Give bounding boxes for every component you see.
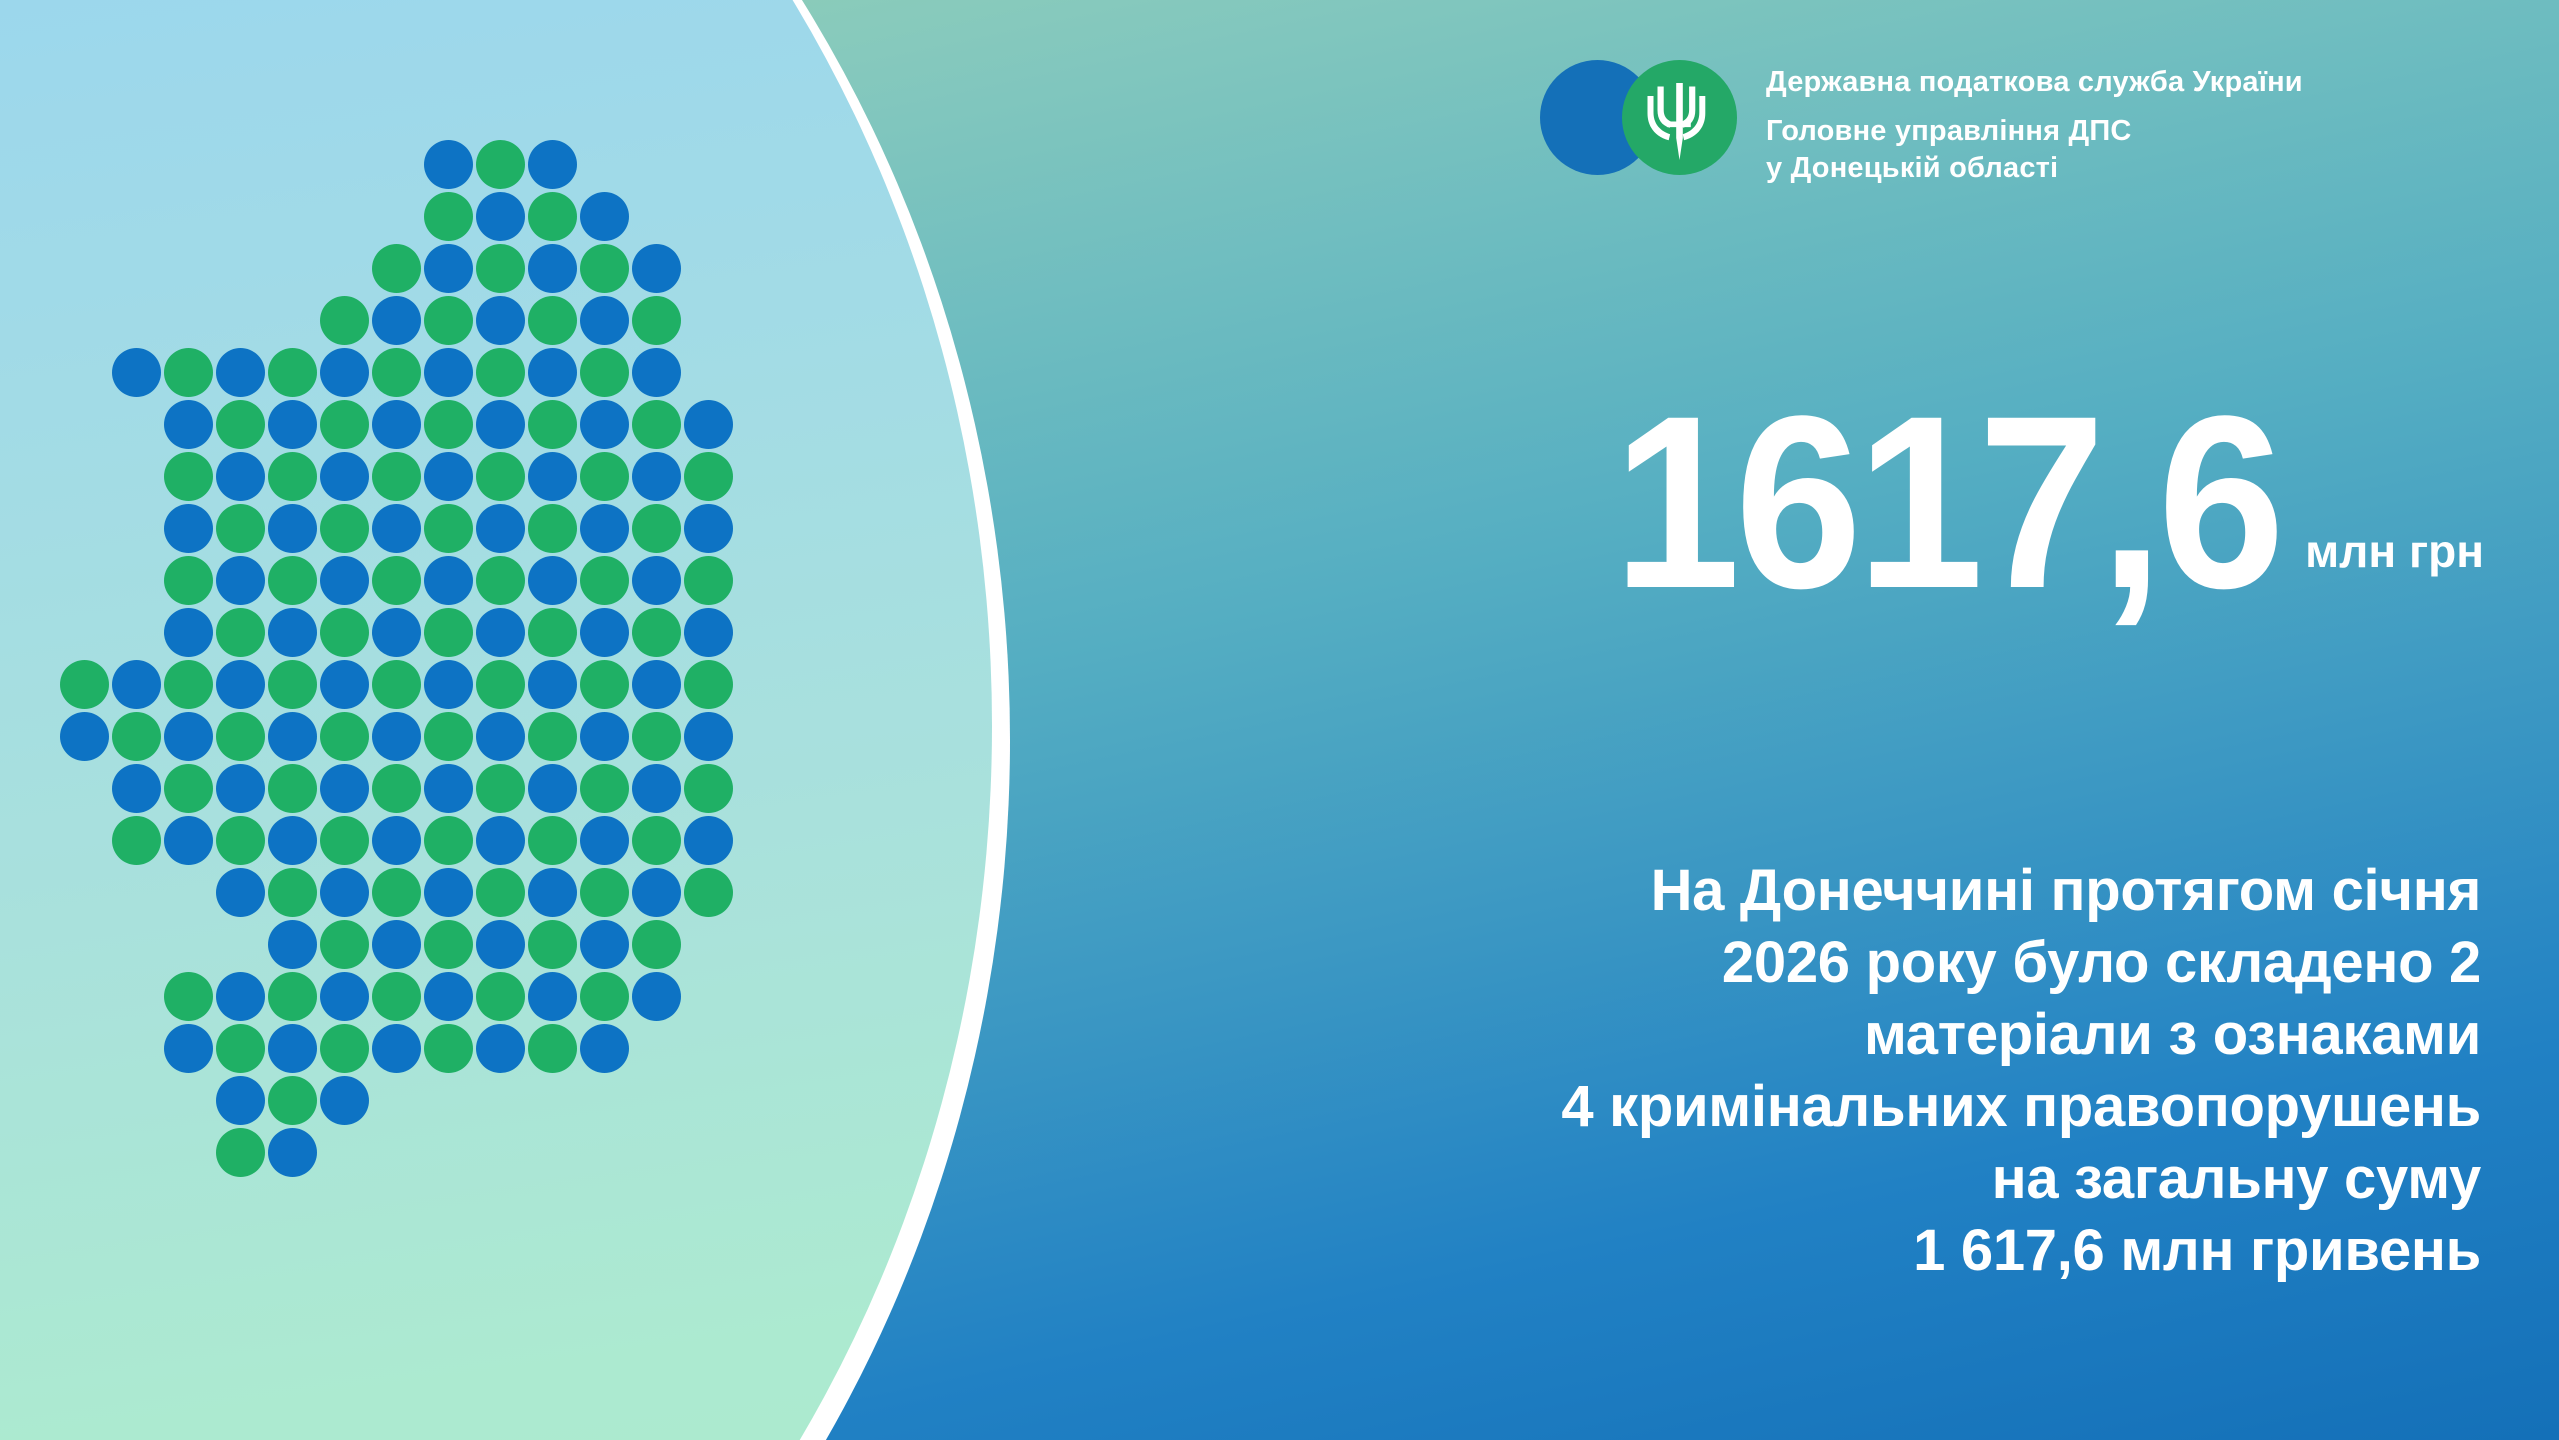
- map-dot: [320, 1076, 369, 1125]
- body-copy-line-2: 2026 року було складено 2: [1061, 927, 2481, 999]
- map-dot: [528, 140, 577, 189]
- map-dot: [164, 556, 213, 605]
- map-dot: [424, 1024, 473, 1073]
- map-dot: [684, 868, 733, 917]
- map-dot: [424, 504, 473, 553]
- map-dot: [528, 764, 577, 813]
- map-dot: [424, 868, 473, 917]
- map-dot: [268, 868, 317, 917]
- map-dot: [320, 972, 369, 1021]
- map-dot: [424, 556, 473, 605]
- infographic-canvas: Державна податкова служба України Головн…: [0, 0, 2559, 1440]
- map-dot: [632, 816, 681, 865]
- map-dot: [372, 1024, 421, 1073]
- map-dot: [320, 556, 369, 605]
- map-dot: [528, 660, 577, 709]
- map-dot: [632, 920, 681, 969]
- map-dot: [684, 660, 733, 709]
- map-dot: [476, 972, 525, 1021]
- map-dot: [164, 660, 213, 709]
- map-dot: [528, 816, 577, 865]
- map-dot: [424, 348, 473, 397]
- map-dot: [164, 764, 213, 813]
- map-dot: [216, 660, 265, 709]
- map-dot: [632, 660, 681, 709]
- map-dot: [164, 400, 213, 449]
- map-dot: [268, 972, 317, 1021]
- map-dot: [424, 192, 473, 241]
- map-dot: [424, 400, 473, 449]
- map-dot: [372, 296, 421, 345]
- map-dot: [684, 556, 733, 605]
- map-dot: [268, 712, 317, 761]
- body-copy-line-4: 4 кримінальних правопорушень: [1061, 1071, 2481, 1143]
- map-dot: [528, 608, 577, 657]
- map-dot: [528, 920, 577, 969]
- map-dot: [424, 140, 473, 189]
- donetsk-region-dot-map: [60, 140, 680, 760]
- map-dot: [216, 1128, 265, 1177]
- map-dot: [476, 556, 525, 605]
- map-dot: [528, 400, 577, 449]
- map-dot: [632, 556, 681, 605]
- map-dot: [528, 192, 577, 241]
- map-dot: [268, 1128, 317, 1177]
- map-dot: [268, 348, 317, 397]
- map-dot: [528, 868, 577, 917]
- map-dot: [216, 764, 265, 813]
- headline-figure: 1617,6 млн грн: [1563, 390, 2484, 616]
- figure-unit: млн грн: [2305, 528, 2484, 616]
- map-dot: [372, 348, 421, 397]
- map-dot: [164, 712, 213, 761]
- map-dot: [528, 972, 577, 1021]
- map-dot: [268, 556, 317, 605]
- map-dot: [320, 348, 369, 397]
- map-dot: [580, 920, 629, 969]
- map-dot: [476, 1024, 525, 1073]
- map-dot: [112, 764, 161, 813]
- map-dot: [372, 920, 421, 969]
- map-dot: [528, 348, 577, 397]
- map-dot: [112, 660, 161, 709]
- map-dot: [372, 816, 421, 865]
- map-dot: [684, 712, 733, 761]
- map-dot: [60, 712, 109, 761]
- map-dot: [476, 920, 525, 969]
- map-dot: [580, 400, 629, 449]
- map-dot: [476, 348, 525, 397]
- map-dot: [424, 608, 473, 657]
- body-copy-line-6: 1 617,6 млн гривень: [1061, 1215, 2481, 1287]
- map-dot: [216, 608, 265, 657]
- map-dot: [632, 712, 681, 761]
- map-dot: [320, 816, 369, 865]
- map-dot: [632, 868, 681, 917]
- map-dot: [580, 660, 629, 709]
- map-dot: [424, 920, 473, 969]
- map-dot: [476, 400, 525, 449]
- map-dot: [476, 816, 525, 865]
- map-dot: [580, 244, 629, 293]
- map-dot: [580, 1024, 629, 1073]
- map-dot: [580, 556, 629, 605]
- map-dot: [320, 920, 369, 969]
- map-dot: [320, 452, 369, 501]
- map-dot: [528, 1024, 577, 1073]
- map-dot: [372, 764, 421, 813]
- map-dot: [164, 452, 213, 501]
- map-dot: [320, 660, 369, 709]
- map-dot: [476, 608, 525, 657]
- map-dot: [372, 504, 421, 553]
- map-dot: [580, 764, 629, 813]
- map-dot: [216, 400, 265, 449]
- map-dot: [424, 296, 473, 345]
- map-dot: [320, 608, 369, 657]
- map-dot: [268, 764, 317, 813]
- map-dot: [476, 504, 525, 553]
- map-dot: [216, 452, 265, 501]
- map-dot: [684, 608, 733, 657]
- map-dot: [268, 816, 317, 865]
- map-dot: [476, 660, 525, 709]
- map-dot: [528, 452, 577, 501]
- map-dot: [164, 348, 213, 397]
- map-dot: [528, 504, 577, 553]
- map-dot: [320, 296, 369, 345]
- body-copy: На Донеччині протягом січня2026 року бул…: [1061, 855, 2481, 1286]
- map-dot: [424, 972, 473, 1021]
- dps-logo-block: Державна податкова служба України Головн…: [1540, 60, 2303, 188]
- map-dot: [580, 348, 629, 397]
- map-dot: [684, 452, 733, 501]
- figure-value: 1617,6: [1613, 390, 2279, 616]
- map-dot: [268, 1024, 317, 1073]
- map-dot: [372, 660, 421, 709]
- map-dot: [632, 608, 681, 657]
- map-dot: [216, 712, 265, 761]
- map-dot: [164, 972, 213, 1021]
- map-dot: [112, 816, 161, 865]
- map-dot: [424, 660, 473, 709]
- map-dot: [424, 816, 473, 865]
- map-dot: [164, 816, 213, 865]
- ukraine-trident-icon: [1622, 60, 1737, 175]
- map-dot: [476, 244, 525, 293]
- map-dot: [528, 556, 577, 605]
- map-dot: [580, 504, 629, 553]
- map-dot: [372, 972, 421, 1021]
- map-dot: [112, 712, 161, 761]
- map-dot: [320, 712, 369, 761]
- map-dot: [632, 452, 681, 501]
- map-dot: [216, 1076, 265, 1125]
- map-dot: [164, 1024, 213, 1073]
- map-dot: [684, 400, 733, 449]
- map-dot: [268, 660, 317, 709]
- map-dot: [580, 452, 629, 501]
- body-copy-line-5: на загальну суму: [1061, 1143, 2481, 1215]
- map-dot: [216, 816, 265, 865]
- map-dot: [164, 608, 213, 657]
- logo-line-1: Державна податкова служба України: [1766, 64, 2303, 102]
- map-dot: [320, 764, 369, 813]
- map-dot: [320, 504, 369, 553]
- map-dot: [632, 504, 681, 553]
- logo-marks: [1540, 60, 1740, 175]
- map-dot: [268, 920, 317, 969]
- map-dot: [424, 712, 473, 761]
- map-dot: [476, 192, 525, 241]
- map-dot: [632, 296, 681, 345]
- map-dot: [424, 452, 473, 501]
- map-dot: [684, 504, 733, 553]
- body-copy-line-1: На Донеччині протягом січня: [1061, 855, 2481, 927]
- map-dot: [320, 400, 369, 449]
- map-dot: [684, 816, 733, 865]
- map-dot: [632, 348, 681, 397]
- map-dot: [372, 608, 421, 657]
- map-dot: [476, 764, 525, 813]
- map-dot: [372, 244, 421, 293]
- map-dot: [268, 504, 317, 553]
- map-dot: [528, 712, 577, 761]
- map-dot: [372, 556, 421, 605]
- map-dot: [372, 452, 421, 501]
- map-dot: [580, 192, 629, 241]
- map-dot: [372, 712, 421, 761]
- map-dot: [216, 1024, 265, 1073]
- map-dot: [216, 504, 265, 553]
- logo-text: Державна податкова служба України Головн…: [1766, 60, 2303, 188]
- map-dot: [268, 608, 317, 657]
- map-dot: [580, 608, 629, 657]
- map-dot: [372, 868, 421, 917]
- map-dot: [632, 764, 681, 813]
- map-dot: [112, 348, 161, 397]
- map-dot: [476, 868, 525, 917]
- map-dot: [216, 972, 265, 1021]
- map-dot: [580, 712, 629, 761]
- map-dot: [216, 556, 265, 605]
- map-dot: [164, 504, 213, 553]
- map-dot: [268, 400, 317, 449]
- logo-line-2: Головне управління ДПС: [1766, 113, 2303, 151]
- map-dot: [476, 452, 525, 501]
- map-dot: [580, 816, 629, 865]
- map-dot: [476, 140, 525, 189]
- map-dot: [528, 296, 577, 345]
- body-copy-line-3: матеріали з ознаками: [1061, 999, 2481, 1071]
- map-dot: [424, 764, 473, 813]
- map-dot: [320, 1024, 369, 1073]
- map-dot: [268, 452, 317, 501]
- map-dot: [216, 348, 265, 397]
- map-dot: [632, 972, 681, 1021]
- logo-line-3: у Донецькій області: [1766, 150, 2303, 188]
- map-dot: [424, 244, 473, 293]
- map-dot: [684, 764, 733, 813]
- map-dot: [372, 400, 421, 449]
- map-dot: [216, 868, 265, 917]
- map-dot: [268, 1076, 317, 1125]
- map-dot: [476, 712, 525, 761]
- map-dot: [632, 400, 681, 449]
- map-dot: [320, 868, 369, 917]
- map-dot: [632, 244, 681, 293]
- map-dot: [60, 660, 109, 709]
- map-dot: [580, 868, 629, 917]
- map-dot: [580, 972, 629, 1021]
- map-dot: [528, 244, 577, 293]
- map-dot: [580, 296, 629, 345]
- map-dot: [476, 296, 525, 345]
